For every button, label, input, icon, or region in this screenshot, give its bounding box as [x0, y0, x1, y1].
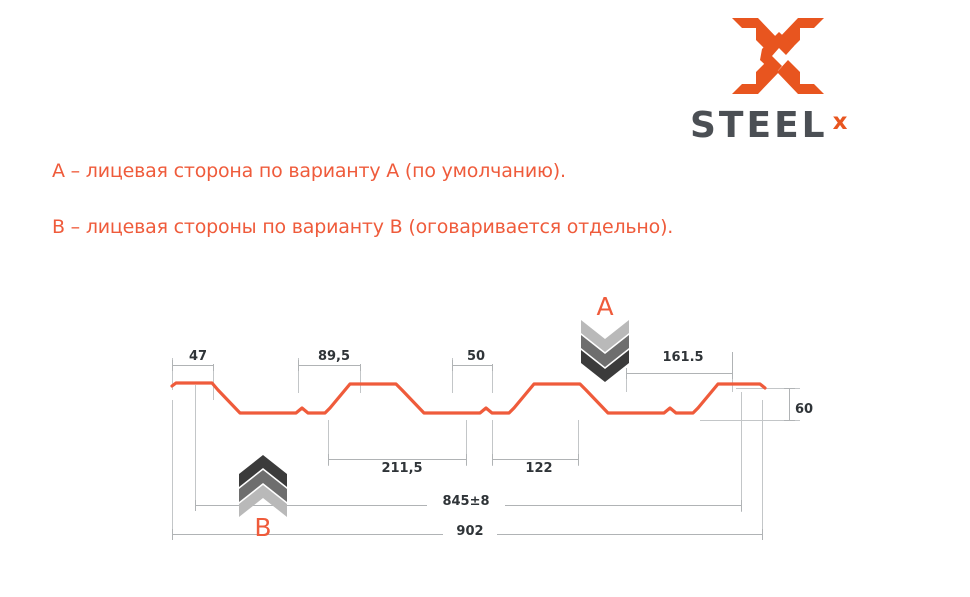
marker-b-chevron-up-icon [239, 455, 287, 517]
dimension-label-89-5: 89,5 [307, 349, 361, 364]
dimension-label-211-5: 211,5 [370, 461, 434, 476]
dimension-label-161-5: 161.5 [648, 350, 718, 365]
dimension-label-47: 47 [178, 349, 218, 364]
dimension-label-122: 122 [514, 461, 564, 476]
dimension-label-902: 902 [443, 524, 497, 539]
marker-a-letter: A [585, 292, 625, 321]
corrugated-profile-outline [172, 383, 765, 413]
marker-b-letter: B [243, 513, 283, 542]
marker-a-chevron-down-icon [581, 320, 629, 382]
dimension-label-60: 60 [791, 402, 829, 417]
dimension-label-845: 845±8 [427, 494, 505, 509]
dimension-label-50: 50 [456, 349, 496, 364]
